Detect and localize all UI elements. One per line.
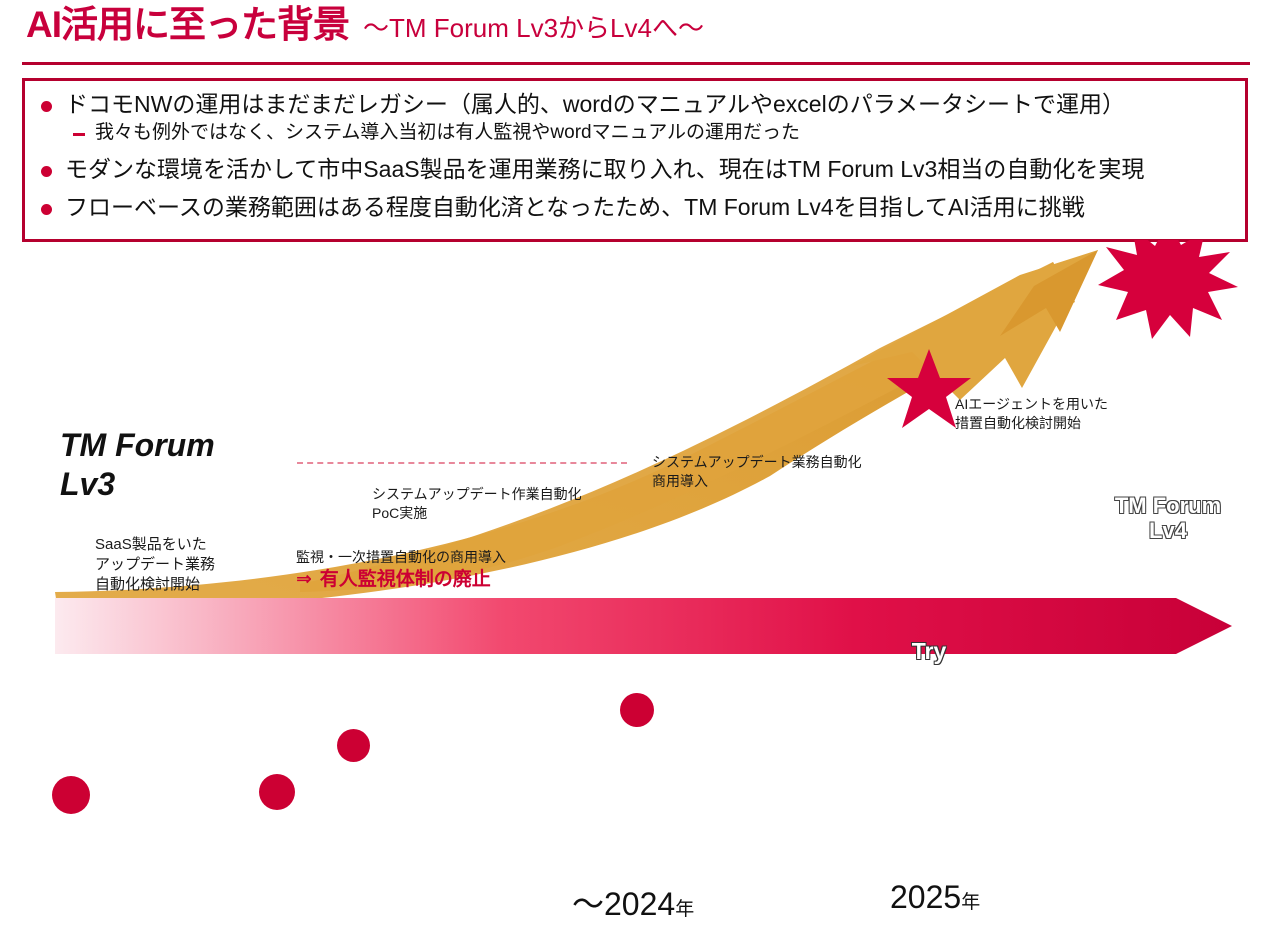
milestone-4-line1: システムアップデート業務自動化 (652, 454, 862, 470)
summary-bullet-box: ドコモNWの運用はまだまだレガシー（属人的、wordのマニュアルやexcelのパ… (22, 78, 1248, 242)
lv3-line2: Lv3 (60, 466, 115, 502)
bullet-text: ドコモNWの運用はまだまだレガシー（属人的、wordのマニュアルやexcelのパ… (65, 90, 1125, 119)
lv4-burst-star-icon (1098, 240, 1238, 339)
title-main-text: AI活用に至った背景 (26, 6, 349, 45)
bullet-item: フローベースの業務範囲はある程度自動化済となったため、TM Forum Lv4を… (41, 193, 1245, 222)
axis-tick-2025-value: 2025 (890, 879, 961, 915)
milestone-label-4: システムアップデート業務自動化商用導入 (652, 453, 862, 491)
page-title: AI活用に至った背景 〜TM Forum Lv3からLv4へ〜 (26, 6, 704, 45)
milestone-dot-icon (337, 729, 370, 762)
axis-tick-2024-value: 〜2024 (572, 886, 675, 922)
axis-tick-2025-suffix: 年 (961, 892, 980, 913)
axis-tick-2025: 2025年 (890, 879, 980, 916)
bullet-dot-icon (41, 166, 52, 177)
milestone-2-emphasis: 有人監視体制の廃止 (320, 569, 491, 590)
slide-root: AI活用に至った背景 〜TM Forum Lv3からLv4へ〜 ドコモNWの運用… (0, 0, 1272, 687)
milestone-2-line1: 監視・一次措置自動化の商用導入 (296, 549, 506, 565)
milestone-3-line2: PoC実施 (372, 505, 427, 521)
milestone-dot-icon (52, 776, 90, 814)
milestone-2-arrow-glyph: ⇒ (296, 569, 312, 590)
milestone-1-line1: SaaS製品をいた (95, 536, 207, 553)
title-subtitle-text: 〜TM Forum Lv3からLv4へ〜 (363, 8, 704, 45)
roadmap-chart: TM ForumLv3 SaaS製品をいたアップデート業務自動化検討開始 監視・… (0, 240, 1272, 687)
axis-tick-2024-suffix: 年 (675, 899, 694, 920)
milestone-4-line2: 商用導入 (652, 473, 708, 489)
bullet-text: モダンな環境を活かして市中SaaS製品を運用業務に取り入れ、現在はTM Foru… (65, 155, 1144, 184)
milestone-label-2: 監視・一次措置自動化の商用導入⇒ 有人監視体制の廃止 (296, 548, 506, 592)
bullet-dot-icon (41, 204, 52, 215)
lv3-stage-label: TM ForumLv3 (60, 426, 215, 504)
milestone-dashed-connector (297, 462, 627, 464)
milestone-label-5: AIエージェントを用いた措置自動化検討開始 (955, 395, 1108, 433)
bullet-item: ドコモNWの運用はまだまだレガシー（属人的、wordのマニュアルやexcelのパ… (41, 90, 1245, 119)
milestone-dot-icon (259, 774, 295, 810)
milestone-1-line3: 自動化検討開始 (95, 576, 200, 593)
milestone-dot-icon (620, 693, 654, 727)
title-underline-rule (22, 62, 1250, 65)
bullet-dash-icon (73, 133, 85, 136)
bullet-text: フローベースの業務範囲はある程度自動化済となったため、TM Forum Lv4を… (65, 193, 1085, 222)
milestone-label-3: システムアップデート作業自動化PoC実施 (372, 485, 582, 523)
axis-tick-2024: 〜2024年 (572, 879, 694, 925)
milestone-3-line1: システムアップデート作業自動化 (372, 486, 582, 502)
milestone-1-line2: アップデート業務 (95, 556, 215, 573)
milestone-5-line1: AIエージェントを用いた (955, 396, 1108, 412)
bullet-sub-text: 我々も例外ではなく、システム導入当初は有人監視やwordマニュアルの運用だった (95, 121, 800, 145)
bullet-sub-item: 我々も例外ではなく、システム導入当初は有人監視やwordマニュアルの運用だった (73, 121, 1245, 145)
milestone-label-1: SaaS製品をいたアップデート業務自動化検討開始 (95, 535, 215, 595)
milestone-5-line2: 措置自動化検討開始 (955, 415, 1081, 431)
bullet-item: モダンな環境を活かして市中SaaS製品を運用業務に取り入れ、現在はTM Foru… (41, 155, 1245, 184)
time-axis-arrow (55, 598, 1232, 654)
bullet-dot-icon (41, 101, 52, 112)
lv3-line1: TM Forum (60, 427, 215, 463)
